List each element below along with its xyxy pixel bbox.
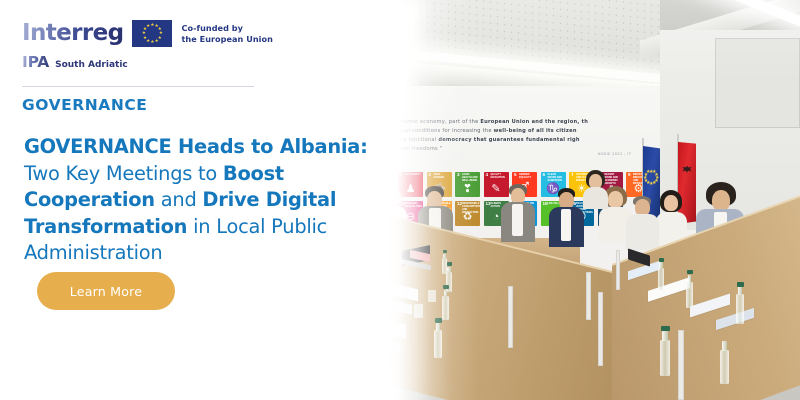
wall-quote-line2-a: qual conditions for increasing the (398, 128, 494, 134)
drinking-glass (414, 304, 423, 318)
water-bottle (658, 268, 664, 290)
drinking-glass (428, 290, 436, 302)
ipa-region-label: South Adriatic (55, 60, 128, 70)
eu-flag-icon: ★★★★★★★★★★★★ (132, 20, 172, 47)
news-banner: ynamic economy, part of the European Uni… (0, 0, 800, 400)
table-leg (508, 286, 513, 348)
water-bottle (686, 282, 693, 308)
ipa-wordmark: IPA (22, 55, 49, 71)
brand-logo-block: Interreg ★★★★★★★★★★★★ Co-funded by the E… (22, 20, 273, 71)
brand-divider (22, 86, 254, 87)
eu-star-icon: ★ (646, 170, 650, 175)
interreg-logo-row: Interreg ★★★★★★★★★★★★ Co-funded by the E… (22, 20, 273, 47)
bottle-cap (443, 250, 447, 253)
headline-segment-0: GOVERNANCE Heads to Albania: (24, 135, 368, 158)
wall-quote-line2-b: well-being of all its citizen (494, 128, 577, 134)
eu-star-icon: ★ (143, 36, 147, 40)
wall-quote-line4: man freedoms " (398, 146, 442, 152)
sdg-title: No poverty (405, 173, 422, 176)
sdg-number: 5 (514, 173, 517, 178)
headline-segment-3: and (155, 188, 203, 211)
wall-quote-line3-a: n a functional (398, 137, 438, 143)
wall-quote-line3-b: democracy that guarantees fundamental ri… (438, 137, 580, 143)
bottle-cap (687, 270, 693, 274)
table-leg (678, 330, 684, 400)
sdg-title: Zero hunger (434, 173, 451, 179)
bottle-cap (659, 258, 664, 262)
sdg-number: 6 (543, 173, 546, 178)
eu-star-icon: ★ (146, 24, 150, 28)
page-title: GOVERNANCE Heads to Albania: Two Key Mee… (24, 134, 384, 267)
water-bottle (442, 296, 449, 320)
headline-segment-1: Two Key Meetings to (24, 162, 223, 185)
meeting-room-photo: ynamic economy, part of the European Uni… (360, 0, 800, 400)
water-bottle (446, 272, 452, 292)
sdg-number: 7 (571, 173, 574, 178)
learn-more-button[interactable]: Learn More (37, 272, 175, 310)
sdg-title: Quality education (491, 173, 508, 179)
water-bottle (736, 294, 744, 324)
sdg-title: Gender equality (519, 173, 536, 179)
text-panel: Interreg ★★★★★★★★★★★★ Co-funded by the E… (0, 0, 400, 400)
wall-quote-line1-b: European Union and the region, th (480, 119, 588, 125)
eu-star-icon: ★ (150, 40, 154, 44)
ipa-logo-row: IPA South Adriatic (22, 55, 273, 71)
wall-quote-credit: NSDIE 2022 - IT (598, 152, 631, 156)
water-bottle (434, 330, 442, 358)
wall-whiteboard-panel (715, 38, 800, 128)
bottle-cap (443, 285, 449, 289)
sdg-number: 2 (429, 173, 432, 178)
sdg-number: 3 (457, 173, 460, 178)
sdg-number: 1 (400, 173, 403, 178)
sdg-number: 4 (486, 173, 489, 178)
eu-cofunding-text: Co-funded by the European Union (181, 23, 272, 44)
sdg-title: Clean water and sanitation (548, 173, 565, 182)
albanian-eagle-icon (683, 166, 692, 173)
eu-star-icon: ★ (142, 31, 146, 35)
water-bottle (660, 340, 670, 376)
bottle-cap (435, 318, 442, 323)
eu-cofunding-line2: the European Union (181, 34, 272, 44)
wall-quote-line1-a: ynamic economy, part of the (398, 119, 480, 125)
table-leg (616, 250, 620, 290)
interreg-wordmark: Interreg (22, 22, 123, 45)
table-leg (598, 292, 603, 366)
table-leg (586, 272, 591, 320)
eu-star-icon: ★ (155, 39, 159, 43)
sdg-number: 9 (628, 173, 631, 178)
eu-cofunding-line1: Co-funded by (181, 23, 242, 33)
programme-label: GOVERNANCE (22, 96, 147, 114)
bottle-cap (661, 326, 670, 331)
sdg-title: Good health and well-being (462, 173, 479, 182)
water-bottle (720, 350, 729, 384)
bottle-cap (737, 282, 744, 287)
bottle-cap (447, 262, 452, 266)
